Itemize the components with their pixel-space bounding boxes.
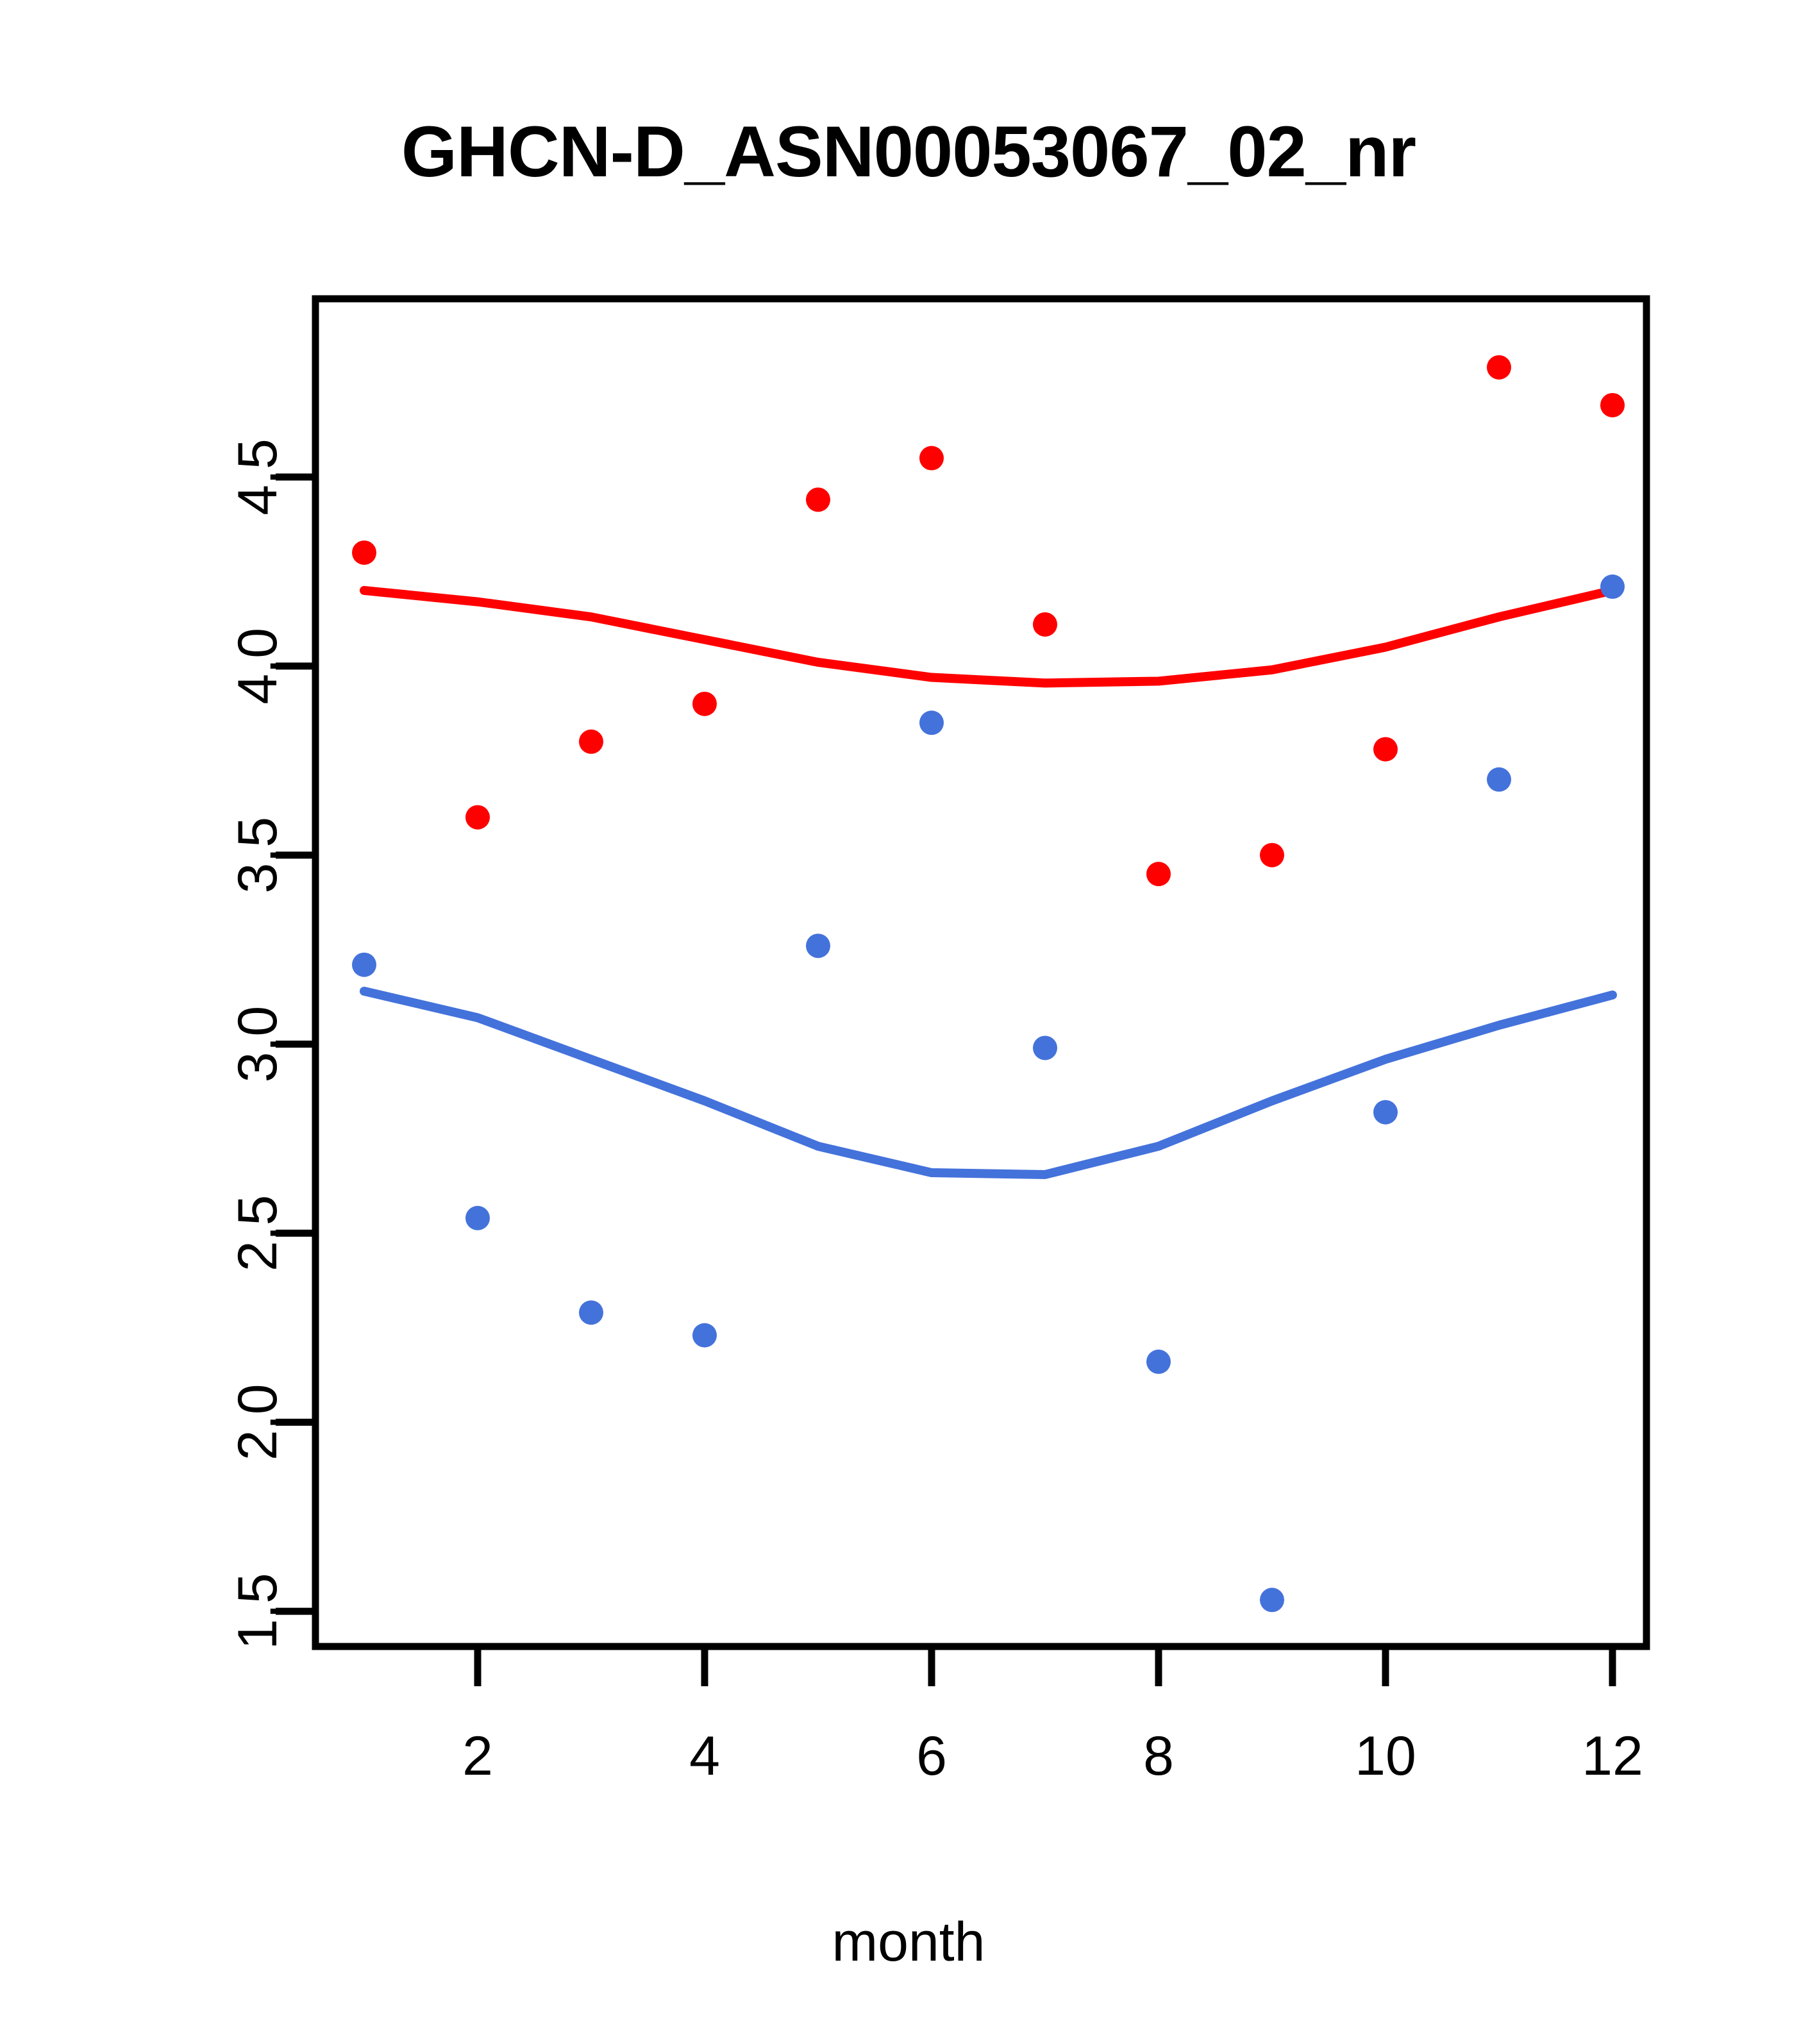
data-point-blue-points [806,934,830,958]
x-tick-label: 12 [1582,1725,1643,1787]
y-tick-label: 4.5 [227,439,289,515]
data-point-blue-points [579,1300,603,1325]
data-point-blue-points [1487,767,1511,792]
data-point-red-points [1373,737,1398,762]
data-point-red-points [465,805,490,830]
figure-canvas: GHCN-D_ASN00053067_02_nr 1.52.02.53.03.5… [0,0,1817,2044]
data-point-red-points [806,487,830,512]
series-line-red-line [364,591,1612,683]
data-point-red-points [1146,862,1171,886]
scatter-plot: 1.52.02.53.03.54.04.524681012 [0,0,1817,2044]
y-tick-label: 2.0 [227,1384,289,1461]
data-point-blue-points [1033,1035,1057,1060]
x-tick-label: 10 [1355,1725,1416,1787]
data-point-red-points [579,730,603,754]
data-point-blue-points [1373,1100,1398,1125]
data-point-red-points [1600,393,1625,417]
x-tick-label: 8 [1143,1725,1174,1787]
y-tick-label: 1.5 [227,1573,289,1650]
x-axis-label: month [0,1911,1817,1974]
y-tick-label: 3.5 [227,817,289,894]
data-point-red-points [352,540,376,565]
data-point-blue-points [1600,574,1625,599]
data-point-blue-points [1260,1587,1284,1612]
data-point-blue-points [352,953,376,977]
data-point-blue-points [692,1323,717,1348]
data-point-blue-points [919,710,944,735]
data-point-blue-points [1146,1350,1171,1374]
data-point-red-points [1487,355,1511,380]
x-tick-label: 6 [916,1725,947,1787]
y-tick-label: 4.0 [227,628,289,705]
data-point-red-points [1260,843,1284,867]
series-line-blue-line [364,991,1612,1175]
x-tick-label: 4 [689,1725,720,1787]
plot-frame [315,299,1646,1646]
data-point-blue-points [465,1206,490,1230]
data-point-red-points [1033,612,1057,637]
y-tick-label: 3.0 [227,1006,289,1083]
x-tick-label: 2 [462,1725,493,1787]
data-point-red-points [919,446,944,471]
data-point-red-points [692,692,717,716]
y-tick-label: 2.5 [227,1195,289,1272]
